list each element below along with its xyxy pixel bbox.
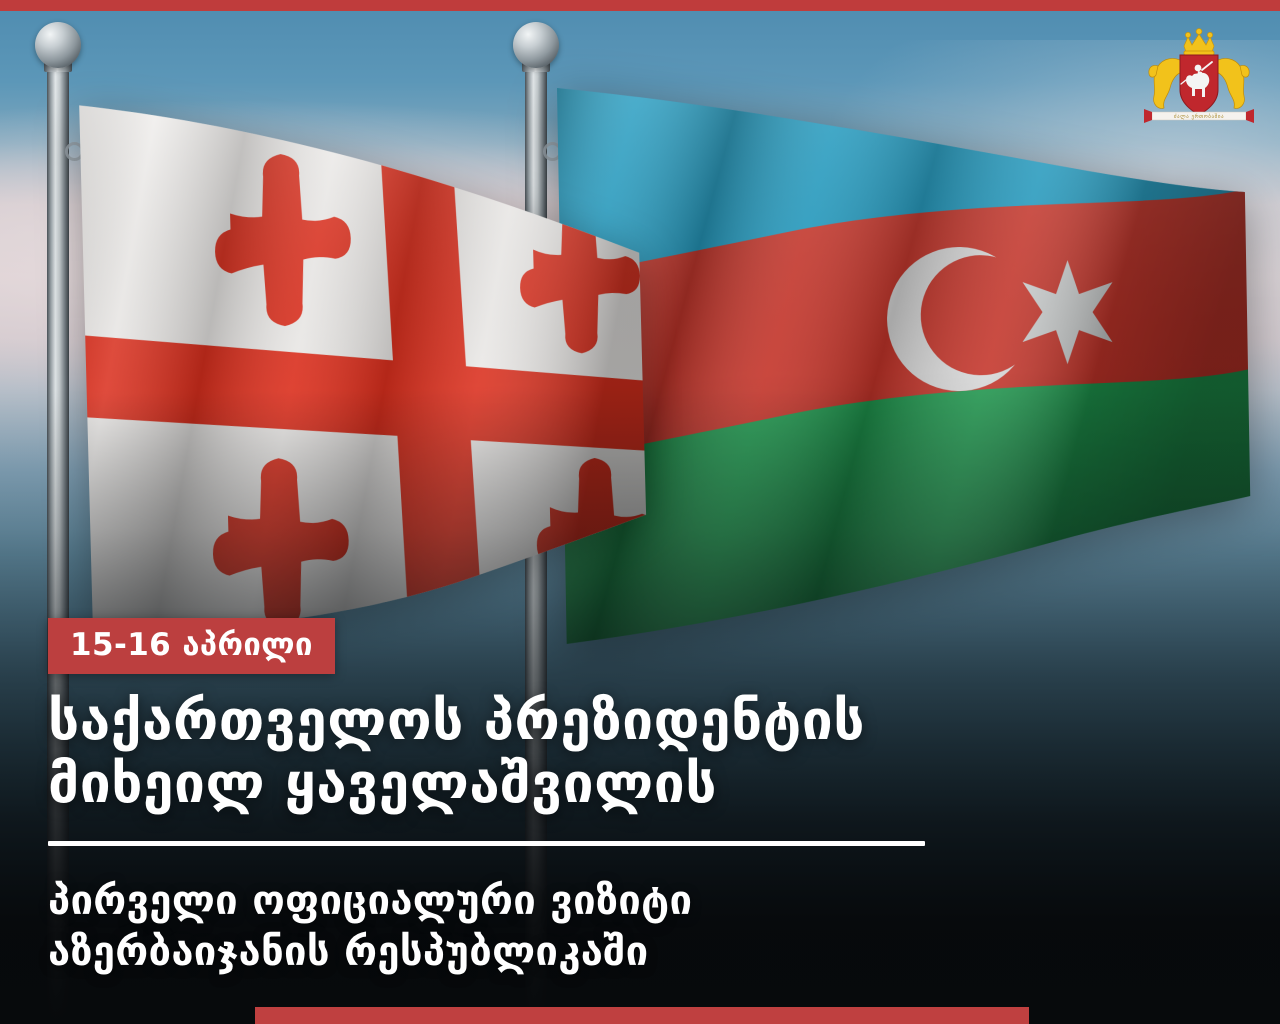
poster-container: ძალა ერთობაშია 15-16 აპრილი საქართველოს … <box>0 0 1280 1024</box>
title-line-2: მიხეილ ყაველაშვილის <box>48 752 1232 815</box>
subtitle-line-2: აზერბაიჯანის რესპუბლიკაში <box>48 927 1232 978</box>
flagpole-left-finial <box>46 22 70 46</box>
subtitle-line-1: პირველი ოფიციალური ვიზიტი <box>48 876 1232 927</box>
title-divider <box>48 841 925 846</box>
poster-content: 15-16 აპრილი საქართველოს პრეზიდენტის მიხ… <box>0 618 1280 1024</box>
flagpole-right-finial <box>524 22 548 46</box>
flagpole-right-ball <box>513 22 559 68</box>
title-line-1: საქართველოს პრეზიდენტის <box>48 689 1232 752</box>
poster-subtitle: პირველი ოფიციალური ვიზიტი აზერბაიჯანის რ… <box>48 876 1232 978</box>
top-accent-bar <box>0 0 1280 11</box>
georgia-coat-of-arms-emblem: ძალა ერთობაშია <box>1140 24 1258 140</box>
svg-text:ძალა ერთობაშია: ძალა ერთობაშია <box>1174 113 1224 120</box>
flagpole-left-ball <box>35 22 81 68</box>
page-title: საქართველოს პრეზიდენტის მიხეილ ყაველაშვი… <box>48 689 1232 814</box>
date-badge: 15-16 აპრილი <box>48 618 335 674</box>
bottom-accent-bar <box>255 1007 1029 1024</box>
